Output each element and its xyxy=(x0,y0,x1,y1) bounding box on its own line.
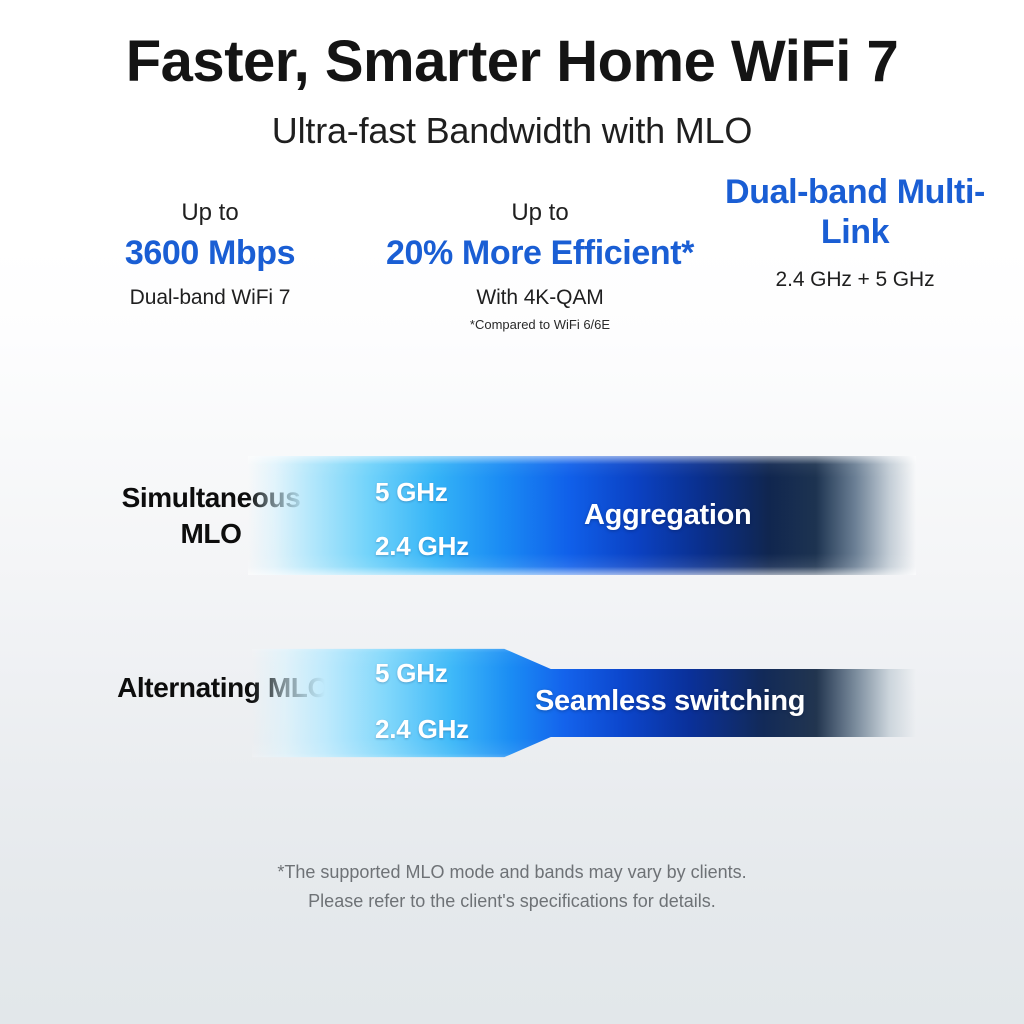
simultaneous-mlo-bar xyxy=(248,456,916,575)
stat-headline-value: 3600 Mbps xyxy=(45,233,375,273)
stat-card-multilink: Dual-band Multi-Link 2.4 GHz + 5 GHz xyxy=(705,198,1005,292)
alternating-band-24ghz: 2.4 GHz xyxy=(375,714,469,745)
simultaneous-band-5ghz: 5 GHz xyxy=(375,477,448,508)
stat-subtitle: 2.4 GHz + 5 GHz xyxy=(705,268,1005,292)
header: Faster, Smarter Home WiFi 7 Ultra-fast B… xyxy=(0,0,1024,152)
stat-subtitle: Dual-band WiFi 7 xyxy=(45,286,375,310)
alternating-mlo-result: Seamless switching xyxy=(535,685,805,718)
page-title: Faster, Smarter Home WiFi 7 xyxy=(0,30,1024,94)
simultaneous-mlo-diagram: Simultaneous MLO xyxy=(0,452,1024,582)
wifi7-feature-page: Faster, Smarter Home WiFi 7 Ultra-fast B… xyxy=(0,0,1024,1024)
stat-footnote: *Compared to WiFi 6/6E xyxy=(375,317,705,332)
stat-headline-value: 20% More Efficient* xyxy=(375,233,705,273)
stat-upto-label: Up to xyxy=(45,198,375,228)
footnote-line-2: Please refer to the client's specificati… xyxy=(0,887,1024,916)
stats-row: Up to 3600 Mbps Dual-band WiFi 7 Up to 2… xyxy=(0,198,1024,332)
simultaneous-mlo-result: Aggregation xyxy=(584,499,751,532)
simultaneous-band-24ghz: 2.4 GHz xyxy=(375,531,469,562)
alternating-band-5ghz: 5 GHz xyxy=(375,658,448,689)
stat-upto-label: Up to xyxy=(375,198,705,228)
page-footnote: *The supported MLO mode and bands may va… xyxy=(0,858,1024,916)
stat-subtitle: With 4K-QAM xyxy=(375,286,705,310)
stat-headline-value: Dual-band Multi-Link xyxy=(705,172,1005,252)
stat-card-bandwidth: Up to 3600 Mbps Dual-band WiFi 7 xyxy=(45,198,375,310)
page-subtitle: Ultra-fast Bandwidth with MLO xyxy=(0,110,1024,152)
footnote-line-1: *The supported MLO mode and bands may va… xyxy=(0,858,1024,887)
alternating-mlo-diagram: Alternating MLO xyxy=(0,636,1024,772)
stat-card-efficiency: Up to 20% More Efficient* With 4K-QAM *C… xyxy=(375,198,705,332)
